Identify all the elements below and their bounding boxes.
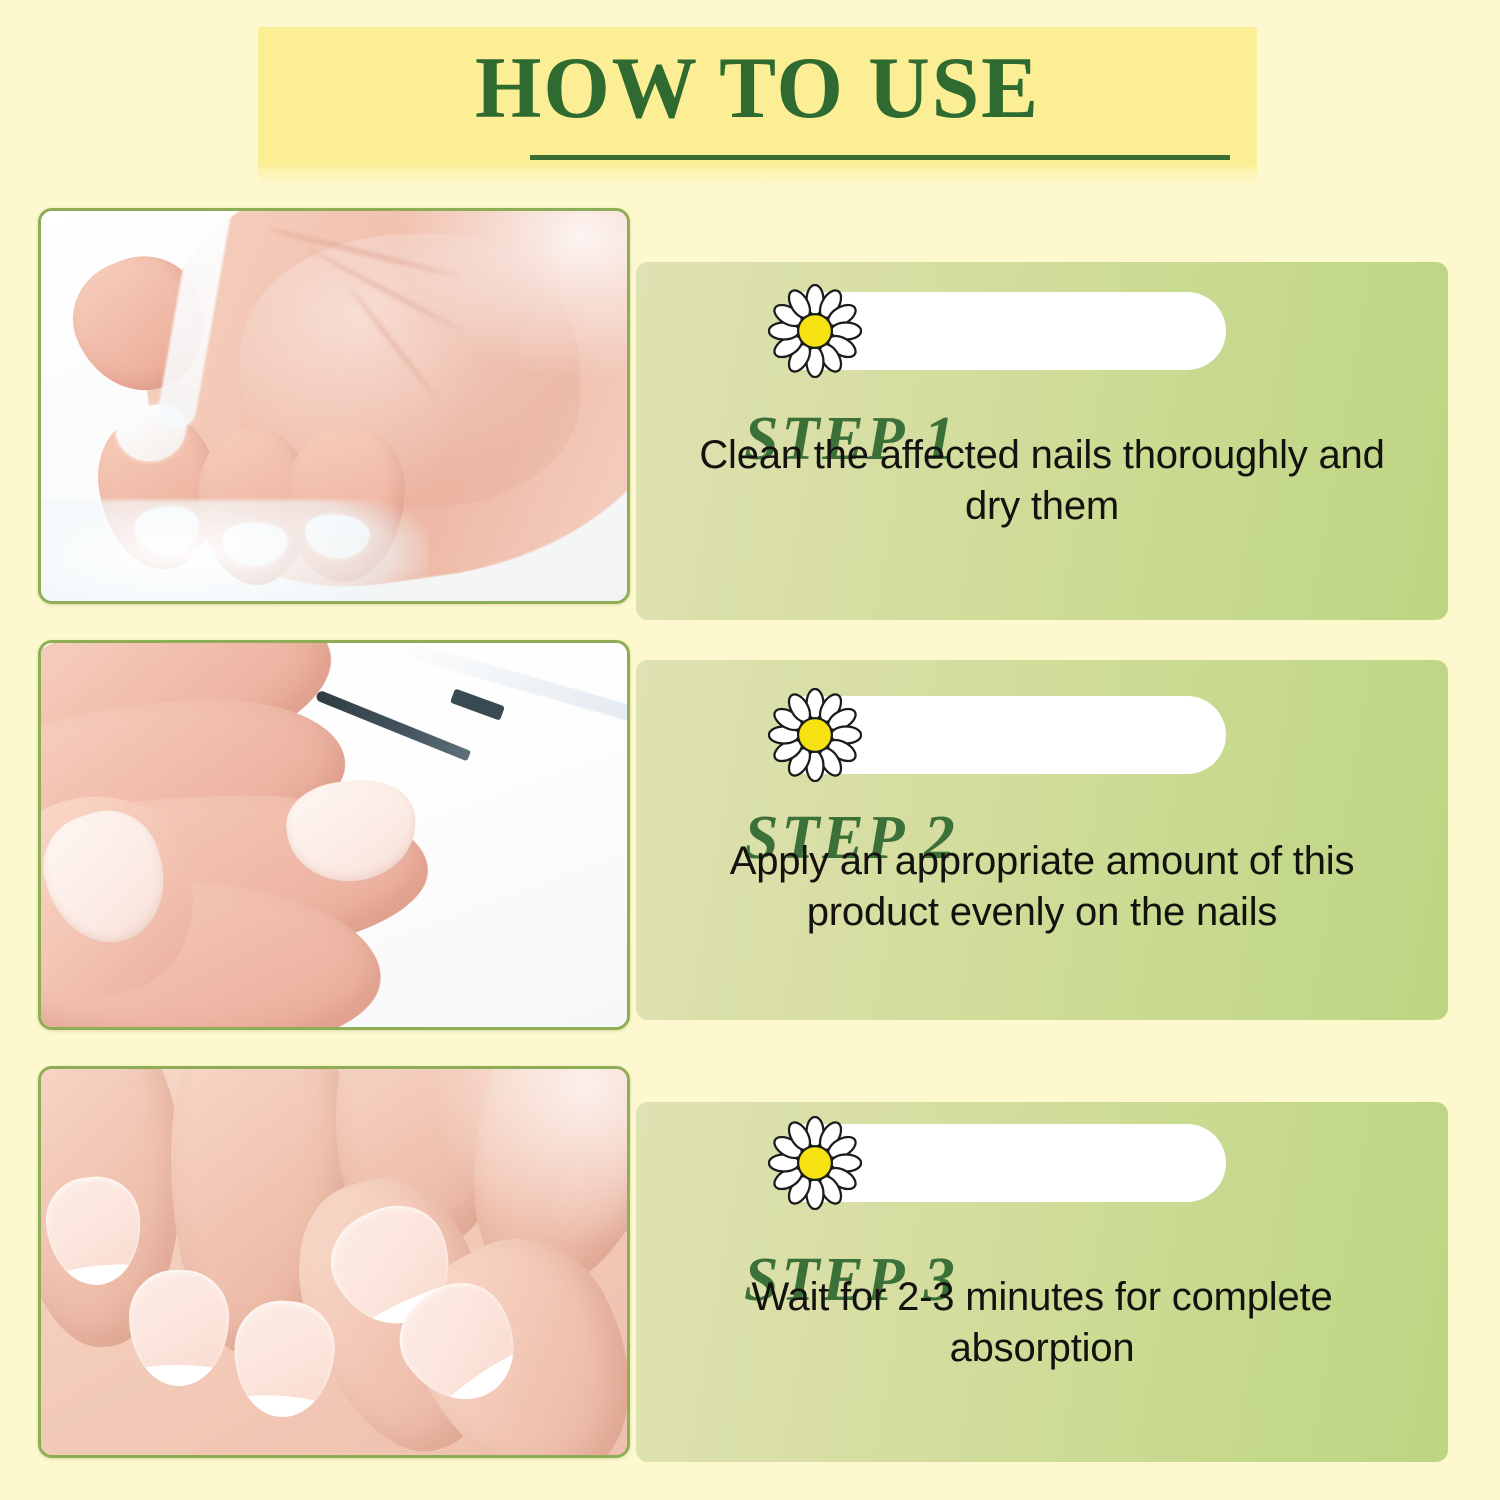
step-1-panel: STEP 1 Clean the affected nails thorough… bbox=[636, 262, 1448, 620]
healthy-manicured-fingernails-photo bbox=[41, 1069, 627, 1455]
applying-nail-treatment-with-brush-photo bbox=[41, 643, 627, 1027]
step-3-photo-card bbox=[38, 1066, 630, 1458]
daisy-flower-icon bbox=[768, 688, 862, 782]
step-row-3: STEP 3 Wait for 2-3 minutes for complete… bbox=[0, 1062, 1500, 1462]
step-row-1: STEP 1 Clean the affected nails thorough… bbox=[0, 200, 1500, 620]
brush-ferrule bbox=[450, 688, 505, 720]
step-2-photo-card bbox=[38, 640, 630, 1030]
water-splash bbox=[41, 500, 428, 601]
page-title: HOW TO USE bbox=[273, 45, 1242, 133]
title-underline bbox=[530, 155, 1230, 160]
step-row-2: STEP 2 Apply an appropriate amount of th… bbox=[0, 636, 1500, 1034]
step-3-panel: STEP 3 Wait for 2-3 minutes for complete… bbox=[636, 1102, 1448, 1462]
brush-handle bbox=[407, 643, 627, 722]
step-2-description: Apply an appropriate amount of this prod… bbox=[676, 836, 1408, 938]
hand-washing-under-running-water-photo bbox=[41, 211, 627, 601]
daisy-flower-icon bbox=[768, 284, 862, 378]
step-1-photo-card bbox=[38, 208, 630, 604]
step-2-panel: STEP 2 Apply an appropriate amount of th… bbox=[636, 660, 1448, 1020]
photo-highlight bbox=[428, 1069, 627, 1247]
step-3-description: Wait for 2-3 minutes for complete absorp… bbox=[676, 1272, 1408, 1374]
manicured-nail bbox=[230, 1297, 337, 1419]
daisy-flower-icon bbox=[768, 1116, 862, 1210]
title-banner: HOW TO USE bbox=[258, 27, 1257, 167]
step-1-description: Clean the affected nails thoroughly and … bbox=[676, 430, 1408, 532]
manicured-nail bbox=[129, 1270, 229, 1386]
photo-highlight bbox=[393, 211, 627, 383]
